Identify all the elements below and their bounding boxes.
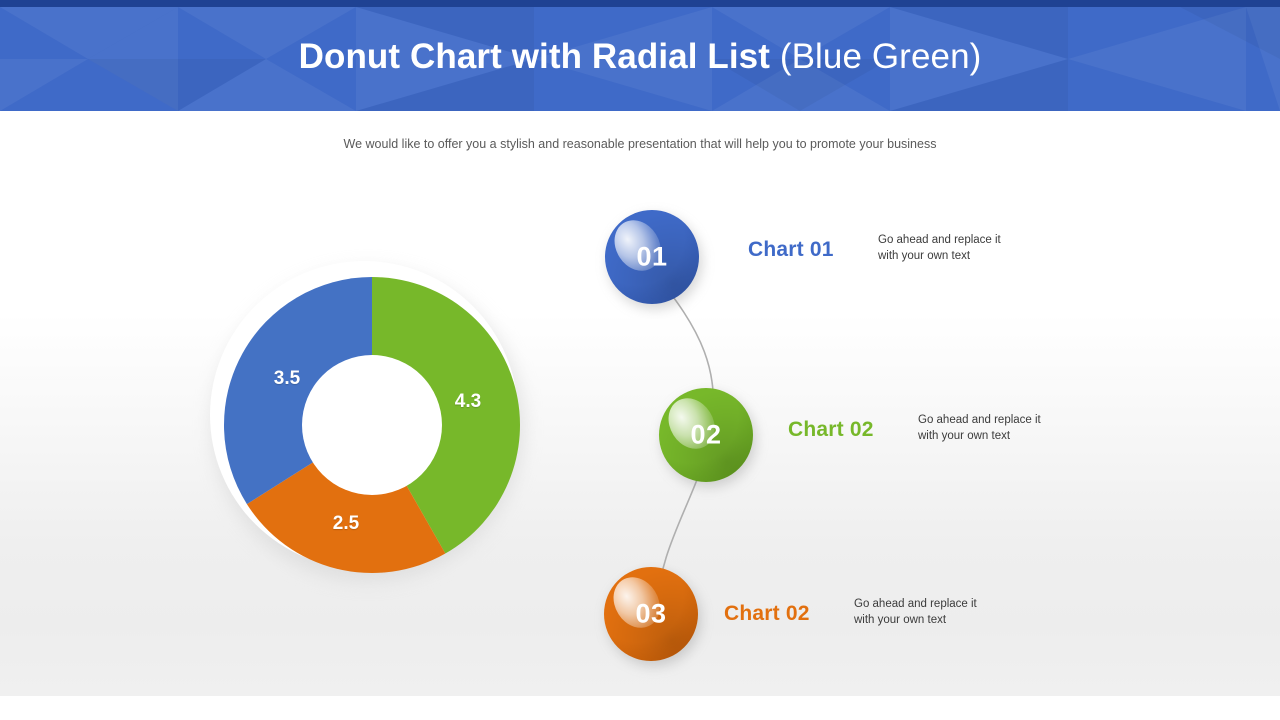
bubble-02[interactable]: 02 xyxy=(659,388,753,482)
page-subtitle: We would like to offer you a stylish and… xyxy=(0,136,1280,153)
bubble-01[interactable]: 01 xyxy=(605,210,699,304)
donut-hole xyxy=(302,355,442,495)
donut-slice-label: 4.3 xyxy=(455,391,481,413)
page-title-variant: (Blue Green) xyxy=(780,37,982,76)
slide: Donut Chart with Radial List (Blue Green… xyxy=(0,0,1280,720)
header-band: Donut Chart with Radial List (Blue Green… xyxy=(0,7,1280,111)
bubble-number: 01 xyxy=(605,242,699,273)
donut-slice-label: 3.5 xyxy=(274,368,300,390)
page-title-main: Donut Chart with Radial List xyxy=(299,37,780,76)
bubble-03[interactable]: 03 xyxy=(604,567,698,661)
donut-chart: 4.32.53.5 xyxy=(204,257,540,593)
bubble-number: 02 xyxy=(659,420,753,451)
donut-slice-label: 2.5 xyxy=(333,513,359,535)
header-top-strip xyxy=(0,0,1280,7)
page-title: Donut Chart with Radial List (Blue Green… xyxy=(0,34,1280,80)
list-item-title[interactable]: Chart 01 xyxy=(748,238,834,262)
donut-slices xyxy=(204,257,540,593)
slide-bottom-margin xyxy=(0,696,1280,720)
bubble-number: 03 xyxy=(604,599,698,630)
list-item-title[interactable]: Chart 02 xyxy=(724,602,810,626)
list-item-title[interactable]: Chart 02 xyxy=(788,418,874,442)
